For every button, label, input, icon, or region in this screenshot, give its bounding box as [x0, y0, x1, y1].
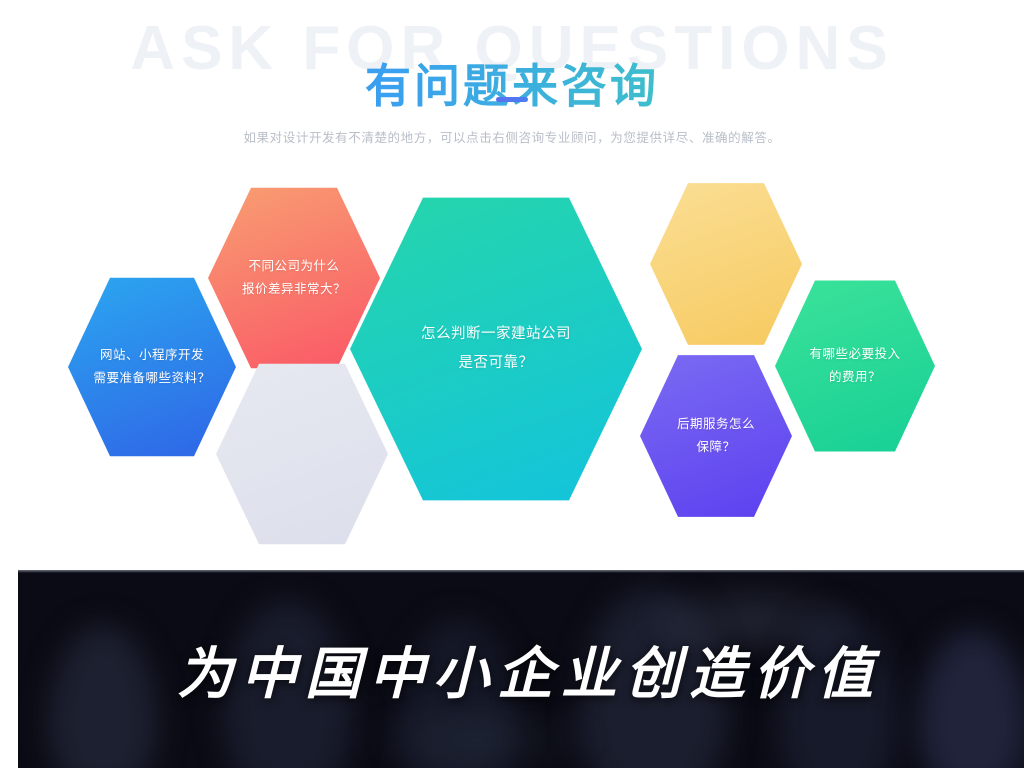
banner-slogan: 为中国中小企业创造价值	[18, 570, 1024, 768]
hexagon-field: 网站、小程序开发 需要准备哪些资料？ 不同公司为什么 报价差异非常大？ 怎么判断…	[0, 150, 1024, 560]
page-title: 有问题来咨询	[0, 61, 1024, 112]
hexagon-label: 后期服务怎么 保障？	[665, 413, 767, 459]
hexagon-label: 不同公司为什么 报价差异非常大？	[228, 255, 360, 301]
heading-block: ASK FOR QUESTIONS 有问题来咨询 如果对设计开发有不清楚的地方，…	[0, 10, 1024, 140]
hexagon-card-website-materials[interactable]: 网站、小程序开发 需要准备哪些资料？	[68, 272, 236, 462]
hexagon-card-reliable-company[interactable]: 怎么判断一家建站公司 是否可靠？	[350, 188, 642, 510]
hexagon-label: 网站、小程序开发 需要准备哪些资料？	[80, 344, 224, 390]
bottom-banner: 为中国中小企业创造价值	[18, 570, 1024, 768]
faq-section: ASK FOR QUESTIONS 有问题来咨询 如果对设计开发有不清楚的地方，…	[0, 0, 1024, 570]
hexagon-card-placeholder-yellow[interactable]	[650, 178, 802, 350]
title-underline	[496, 97, 528, 102]
hexagon-card-necessary-costs[interactable]: 有哪些必要投入 的费用？	[775, 275, 935, 457]
section-subtitle: 如果对设计开发有不清楚的地方，可以点击右侧咨询专业顾问，为您提供详尽、准确的解答…	[0, 128, 1024, 148]
hexagon-label: 有哪些必要投入 的费用？	[797, 343, 914, 389]
hexagon-card-placeholder-gray[interactable]	[216, 358, 388, 550]
hexagon-label: 怎么判断一家建站公司 是否可靠？	[398, 320, 595, 378]
hexagon-card-after-sales-service[interactable]: 后期服务怎么 保障？	[640, 350, 792, 522]
